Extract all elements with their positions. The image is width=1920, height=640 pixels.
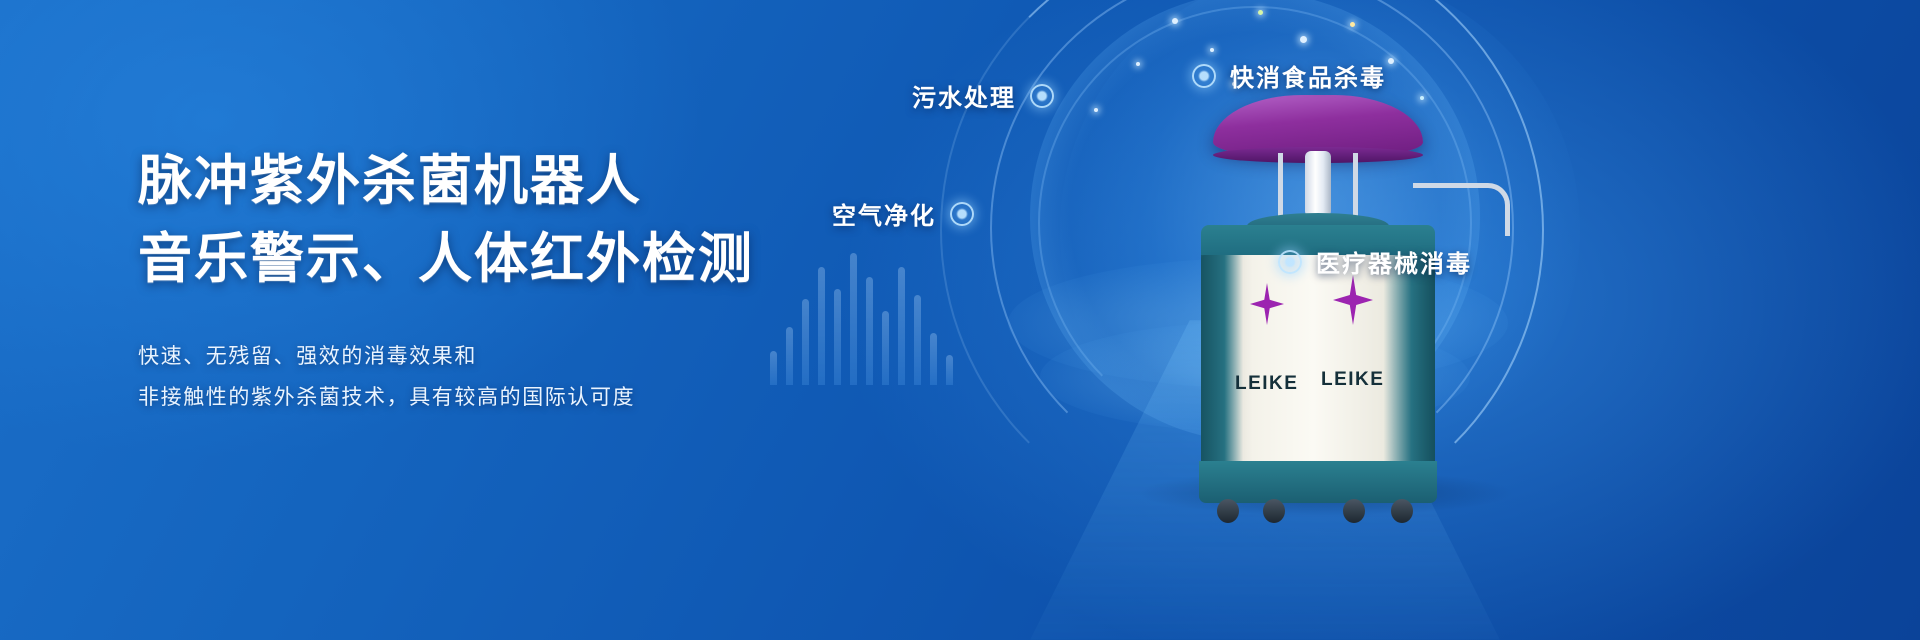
brand-label-left: LEIKE — [1235, 373, 1298, 395]
caster-wheel — [1391, 499, 1413, 523]
lamp-support-left — [1278, 153, 1283, 219]
callout-label: 快消食品杀毒 — [1230, 58, 1386, 93]
uv-lamp-tube — [1305, 151, 1331, 217]
node-dot-icon — [950, 202, 974, 226]
callout-food-disinfection: 快消食品杀毒 — [1192, 58, 1386, 93]
sparkle-icon — [1172, 18, 1178, 24]
sparkle-icon — [1258, 10, 1263, 15]
caster-wheel — [1343, 499, 1365, 523]
callout-waste-water: 污水处理 — [912, 78, 1054, 113]
sparkle-icon — [1350, 22, 1355, 27]
brand-label-right: LEIKE — [1321, 369, 1384, 391]
sparkle-icon — [1388, 58, 1394, 64]
uv-robot: LEIKE LEIKE — [1155, 95, 1485, 495]
node-dot-icon — [1278, 250, 1302, 274]
robot-body-bottom — [1199, 461, 1437, 503]
headline-line-1: 脉冲紫外杀菌机器人 — [138, 150, 898, 214]
robot-body-shading — [1201, 255, 1435, 467]
caster-wheel — [1217, 499, 1239, 523]
sparkle-icon — [1094, 108, 1098, 112]
node-dot-icon — [1030, 84, 1054, 108]
caster-wheel — [1263, 499, 1285, 523]
sparkle-icon — [1300, 36, 1307, 43]
callout-label: 医疗器械消毒 — [1316, 244, 1472, 279]
sparkle-icon — [1210, 48, 1214, 52]
lamp-support-right — [1353, 153, 1358, 219]
callout-medical-devices: 医疗器械消毒 — [1278, 244, 1472, 279]
callout-label: 空气净化 — [832, 196, 936, 231]
hero-banner: 脉冲紫外杀菌机器人 音乐警示、人体红外检测 快速、无残留、强效的消毒效果和 非接… — [0, 0, 1920, 640]
sparkle-icon — [1136, 62, 1140, 66]
node-dot-icon — [1192, 64, 1216, 88]
callout-label: 污水处理 — [912, 78, 1016, 113]
callout-air-purification: 空气净化 — [832, 196, 974, 231]
